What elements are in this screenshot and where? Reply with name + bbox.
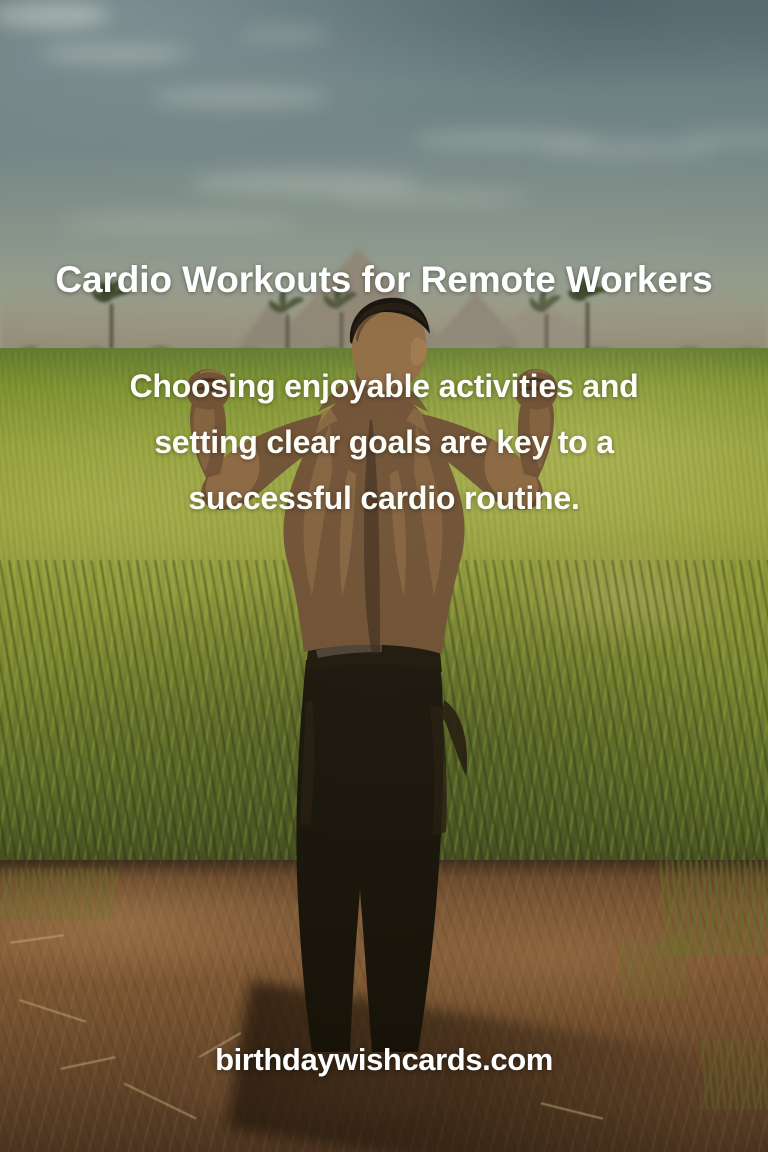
website-url: birthdaywishcards.com	[0, 1042, 768, 1078]
pinterest-style-quote-card: Cardio Workouts for Remote Workers Choos…	[0, 0, 768, 1152]
page-title: Cardio Workouts for Remote Workers	[0, 251, 768, 308]
subtitle-text: Choosing enjoyable activities and settin…	[0, 358, 768, 526]
text-overlay: Cardio Workouts for Remote Workers Choos…	[0, 0, 768, 1152]
